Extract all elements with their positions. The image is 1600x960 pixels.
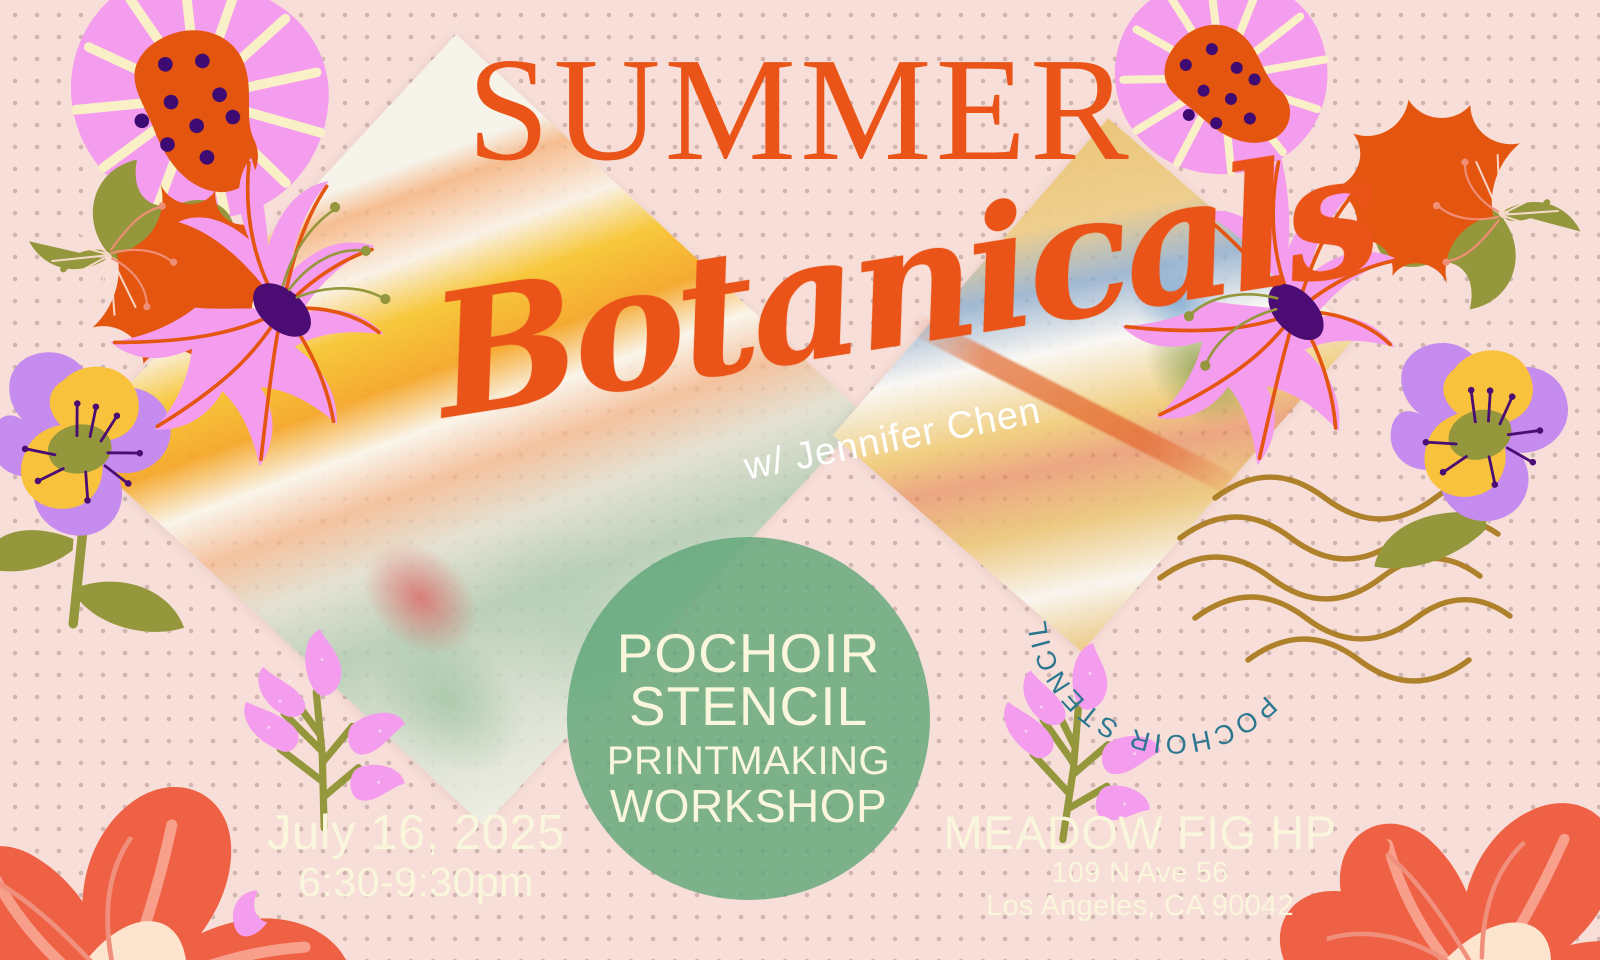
curved-workshop-text: POCHOIR STENCIL PRINTMAKING WORKSHOP xyxy=(1018,452,1328,762)
venue-block: MEADOW FIG HP 109 N Ave 56 Los Angeles, … xyxy=(940,808,1340,922)
purple-yellow-poppy-left xyxy=(0,348,203,634)
venue-city-state-zip: Los Angeles, CA 90042 xyxy=(940,890,1340,922)
badge-line-1: POCHOIR xyxy=(617,627,881,680)
purple-yellow-poppy-right xyxy=(1359,334,1578,570)
venue-street: 109 N Ave 56 xyxy=(940,857,1340,889)
event-time: 6:30-9:30pm xyxy=(246,859,586,906)
badge-line-2: STENCIL xyxy=(629,680,868,733)
event-date: July 16, 2025 xyxy=(246,808,586,859)
poster-canvas: SUMMER Botanicals w/ Jennifer Chen POCHO… xyxy=(0,0,1600,960)
schedule-block: July 16, 2025 6:30-9:30pm xyxy=(246,808,586,907)
workshop-badge-text: POCHOIR STENCIL PRINTMAKING WORKSHOP xyxy=(567,537,930,900)
pink-leaf-sprig-bottom-left xyxy=(239,624,412,833)
venue-name: MEADOW FIG HP xyxy=(940,808,1340,857)
badge-line-4: WORKSHOP xyxy=(610,782,887,830)
badge-line-3: PRINTMAKING xyxy=(607,740,890,782)
curved-text-content: POCHOIR STENCIL PRINTMAKING WORKSHOP xyxy=(1018,452,1283,759)
curved-textpath: POCHOIR STENCIL PRINTMAKING WORKSHOP xyxy=(1018,452,1283,759)
